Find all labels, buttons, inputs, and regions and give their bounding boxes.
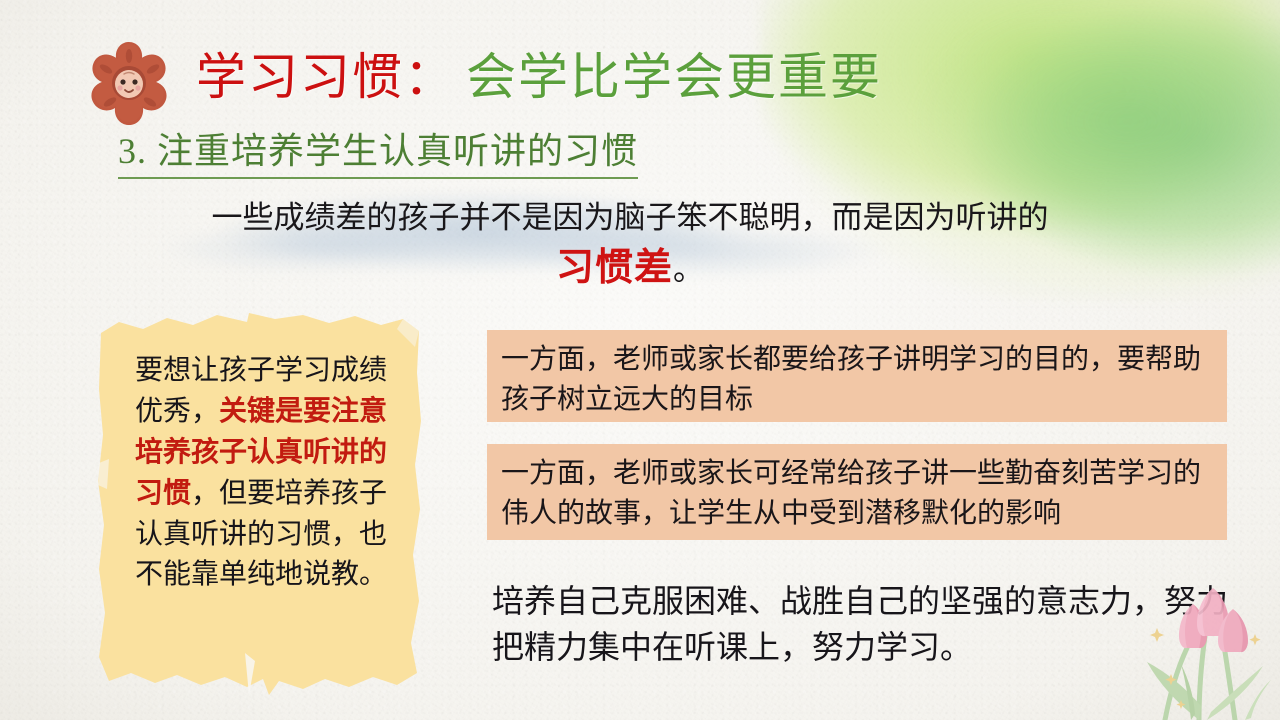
orange-callout-text-2: 一方面，老师或家长可经常给孩子讲一些勤奋刻苦学习的伟人的故事，让学生从中受到潜移… <box>501 458 1201 529</box>
section-heading: 3. 注重培养学生认真听讲的习惯 <box>118 130 638 179</box>
slide-canvas: 学习习惯： 会学比学会更重要 3. 注重培养学生认真听讲的习惯 一些成绩差的孩子… <box>0 0 1280 720</box>
pink-tulips-illustration <box>1095 570 1280 720</box>
flower-face-icon <box>80 36 178 132</box>
title-primary: 学习习惯： <box>196 37 456 109</box>
lead-paragraph-part1: 一些成绩差的孩子并不是因为脑子笨不聪明，而是因为听讲的 <box>212 200 1049 235</box>
title-secondary: 会学比学会更重要 <box>466 37 882 109</box>
slide-title: 学习习惯： 会学比学会更重要 <box>196 38 1096 108</box>
orange-callout-text-1: 一方面，老师或家长都要给孩子讲明学习的目的，要帮助孩子树立远大的目标 <box>501 344 1201 415</box>
yellow-callout-box: 要想让孩子学习成绩优秀，关键是要注意培养孩子认真听讲的习惯，但要培养孩子认真听讲… <box>97 313 423 695</box>
lead-paragraph-part2: 。 <box>673 252 704 287</box>
yellow-callout-text: 要想让孩子学习成绩优秀，关键是要注意培养孩子认真听讲的习惯，但要培养孩子认真听讲… <box>133 351 389 596</box>
orange-callout-box-1: 一方面，老师或家长都要给孩子讲明学习的目的，要帮助孩子树立远大的目标 <box>487 330 1227 422</box>
orange-callout-box-2: 一方面，老师或家长可经常给孩子讲一些勤奋刻苦学习的伟人的故事，让学生从中受到潜移… <box>487 444 1227 540</box>
lead-paragraph: 一些成绩差的孩子并不是因为脑子笨不聪明，而是因为听讲的习惯差。 <box>200 196 1060 296</box>
lead-paragraph-highlight: 习惯差 <box>556 247 673 289</box>
